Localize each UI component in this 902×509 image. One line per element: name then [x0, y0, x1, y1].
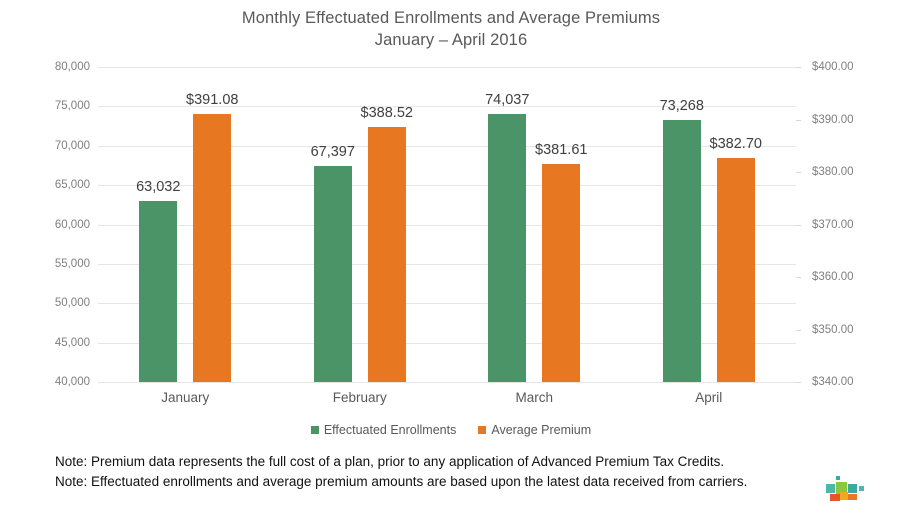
category-axis-label: February — [333, 390, 387, 405]
left-axis-tick-label: 80,000 — [55, 61, 90, 73]
bar-value-label-enrollments: 73,268 — [660, 98, 704, 114]
category-axis-label: January — [161, 390, 209, 405]
left-axis-tick-label: 65,000 — [55, 179, 90, 191]
bar-value-label-premium: $391.08 — [186, 92, 238, 108]
bar-value-label-premium: $382.70 — [710, 136, 762, 152]
logo-tile-2 — [826, 484, 835, 493]
legend-swatch-green-icon — [311, 426, 319, 434]
footnote-effectuated-enrollments: Note: Effectuated enrollments and averag… — [55, 472, 800, 492]
right-axis-tick-label: $350.00 — [812, 324, 854, 336]
bar-effectuated-enrollments[interactable] — [139, 201, 177, 382]
footnote-premium-data: Note: Premium data represents the full c… — [55, 452, 800, 472]
legend-label-average-premium: Average Premium — [491, 423, 591, 437]
chart-title: Monthly Effectuated Enrollments and Aver… — [0, 7, 902, 51]
chart-title-line-2: January – April 2016 — [0, 29, 902, 51]
bar-average-premium[interactable] — [717, 158, 755, 382]
right-axis-tick-mark — [796, 277, 801, 278]
bar-effectuated-enrollments[interactable] — [488, 114, 526, 382]
left-axis-tick-label: 40,000 — [55, 376, 90, 388]
gridline — [98, 382, 796, 383]
right-axis-tick-label: $340.00 — [812, 376, 854, 388]
bar-value-label-premium: $381.61 — [535, 142, 587, 158]
right-axis-tick-label: $360.00 — [812, 271, 854, 283]
right-axis-tick-label: $370.00 — [812, 219, 854, 231]
left-axis-tick-label: 70,000 — [55, 140, 90, 152]
logo-tile-4 — [848, 484, 857, 493]
right-axis-tick-mark — [796, 172, 801, 173]
chart-legend: Effectuated Enrollments Average Premium — [0, 423, 902, 437]
legend-item-effectuated-enrollments[interactable]: Effectuated Enrollments — [311, 423, 456, 437]
right-axis-tick-mark — [796, 330, 801, 331]
gridline — [98, 67, 796, 68]
legend-label-effectuated-enrollments: Effectuated Enrollments — [324, 423, 456, 437]
bar-effectuated-enrollments[interactable] — [314, 166, 352, 382]
right-axis-tick-label: $380.00 — [812, 166, 854, 178]
bar-value-label-enrollments: 74,037 — [485, 92, 529, 108]
left-axis-tick-label: 60,000 — [55, 219, 90, 231]
legend-swatch-orange-icon — [478, 426, 486, 434]
left-axis-tick-label: 55,000 — [55, 258, 90, 270]
logo-tile-1 — [836, 476, 840, 480]
bar-average-premium[interactable] — [193, 114, 231, 382]
mosaic-squares-logo — [826, 476, 866, 506]
legend-item-average-premium[interactable]: Average Premium — [478, 423, 591, 437]
bar-value-label-enrollments: 63,032 — [136, 179, 180, 195]
bar-value-label-premium: $388.52 — [361, 105, 413, 121]
right-axis-tick-label: $400.00 — [812, 61, 854, 73]
right-axis-tick-mark — [796, 382, 801, 383]
plot-area: 63,032$391.0867,397$388.5274,037$381.617… — [98, 67, 796, 382]
left-axis-tick-label: 45,000 — [55, 337, 90, 349]
right-axis-tick-label: $390.00 — [812, 114, 854, 126]
bar-average-premium[interactable] — [542, 164, 580, 382]
bar-value-label-enrollments: 67,397 — [311, 144, 355, 160]
bar-average-premium[interactable] — [368, 127, 406, 382]
logo-tile-7 — [840, 492, 848, 500]
logo-tile-6 — [830, 494, 840, 501]
right-axis-tick-mark — [796, 120, 801, 121]
left-axis-tick-label: 50,000 — [55, 297, 90, 309]
right-axis-tick-mark — [796, 67, 801, 68]
right-axis-tick-mark — [796, 225, 801, 226]
left-axis-tick-label: 75,000 — [55, 100, 90, 112]
category-axis-label: March — [515, 390, 553, 405]
logo-tile-8 — [848, 494, 857, 500]
logo-tile-5 — [859, 486, 864, 491]
category-axis-label: April — [695, 390, 722, 405]
chart-title-line-1: Monthly Effectuated Enrollments and Aver… — [242, 9, 660, 27]
footnotes: Note: Premium data represents the full c… — [55, 452, 800, 491]
bar-effectuated-enrollments[interactable] — [663, 120, 701, 382]
